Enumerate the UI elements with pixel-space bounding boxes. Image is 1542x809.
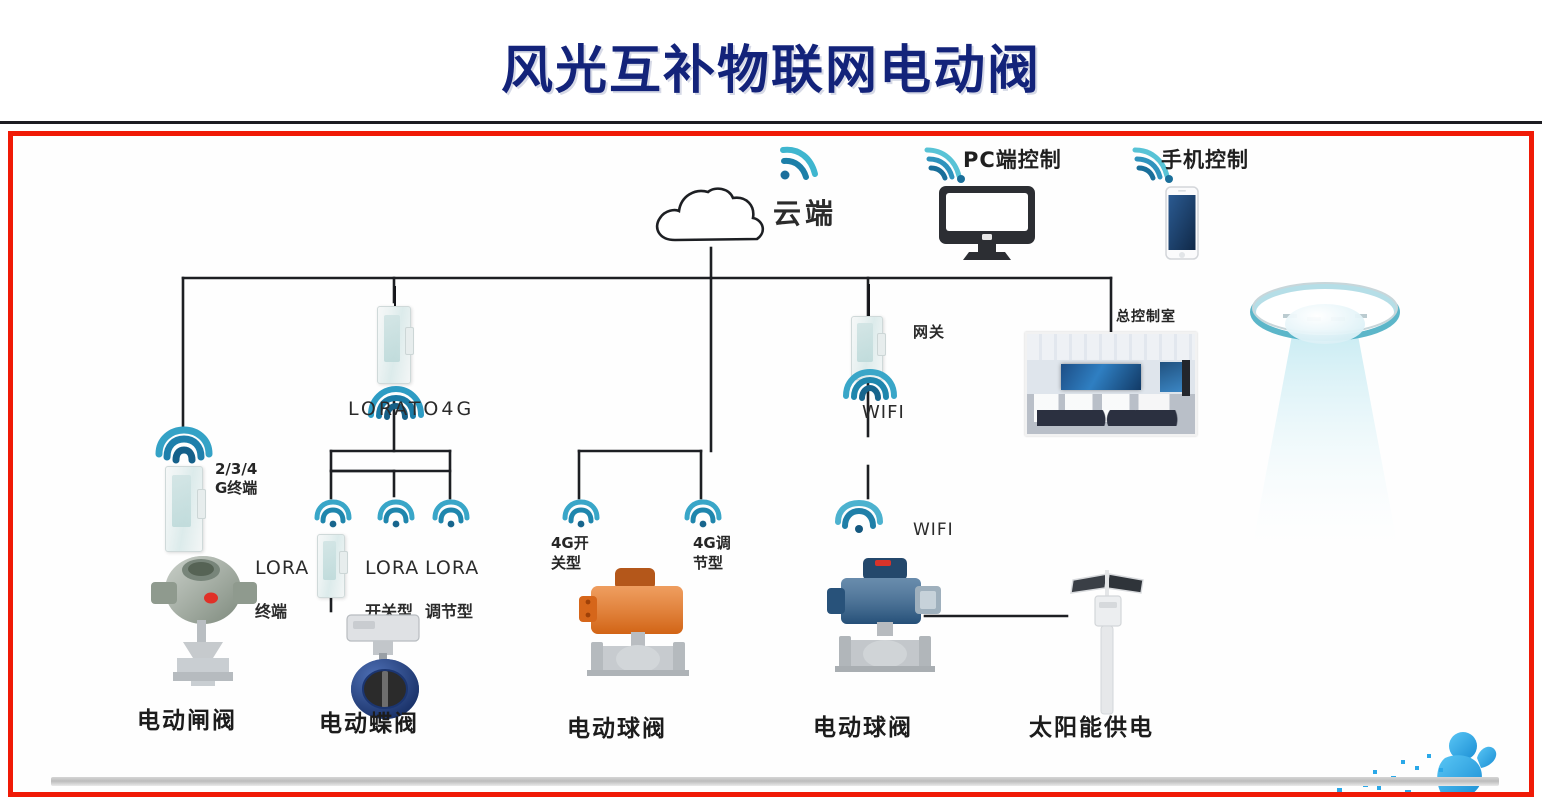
diagram-frame: 云端 xyxy=(8,131,1534,797)
floor-strip xyxy=(51,777,1499,786)
solar-panel-pole-icon[interactable] xyxy=(1059,556,1149,716)
diagram-page: 风光互补物联网电动阀 xyxy=(0,0,1542,809)
title-bar: 风光互补物联网电动阀 xyxy=(0,0,1542,122)
phone-control-label[interactable]: 手机控制 xyxy=(1161,148,1249,172)
electric-gate-valve-icon[interactable] xyxy=(137,546,267,686)
chairs xyxy=(1037,410,1185,426)
lora-to-4g-label: LORATO4G xyxy=(348,399,474,421)
electric-ball-valve-blue-icon[interactable] xyxy=(823,556,949,682)
wifi-signal-icon xyxy=(683,498,723,535)
ufo-spotlight-icon xyxy=(1235,278,1415,568)
wifi-signal-icon xyxy=(313,498,353,535)
diagram-canvas: 云端 xyxy=(13,136,1529,792)
page-title: 风光互补物联网电动阀 xyxy=(0,28,1542,103)
cloud-label: 云端 xyxy=(773,198,837,230)
electric-ball-valve-blue-name: 电动球阀 xyxy=(813,708,913,742)
control-room-label: 总控制室 xyxy=(1116,309,1176,325)
side-screen xyxy=(1160,362,1182,392)
title-divider xyxy=(0,121,1542,124)
electric-ball-valve-orange-name: 电动球阀 xyxy=(567,709,667,743)
wifi-signal-icon xyxy=(833,498,885,541)
cloud-icon xyxy=(651,178,771,250)
video-wall xyxy=(1061,364,1142,390)
control-room-photo[interactable] xyxy=(1025,332,1197,436)
wifi-signal-icon xyxy=(561,498,601,535)
lora-switch-label-main: LORA xyxy=(365,557,419,580)
electric-gate-valve-name: 电动闸阀 xyxy=(137,701,237,735)
gateway-module-icon[interactable] xyxy=(377,306,411,384)
electric-butterfly-valve-name: 电动蝶阀 xyxy=(319,704,419,738)
antenna-icon xyxy=(868,284,870,318)
wifi-signal-icon xyxy=(431,498,471,535)
gateway-label: 网关 xyxy=(913,324,945,341)
gateway-wifi-label: WIFI xyxy=(862,403,905,424)
ceiling-detail xyxy=(1027,334,1195,360)
dark-panel xyxy=(1182,360,1190,396)
lora-modulating-label-main: LORA xyxy=(425,557,479,580)
lora-terminal-module-icon[interactable] xyxy=(317,534,345,598)
smartphone-icon[interactable] xyxy=(1165,186,1199,260)
wifi-signal-icon xyxy=(777,144,823,191)
antenna-icon xyxy=(394,286,396,308)
pc-control-label[interactable]: PC端控制 xyxy=(963,148,1062,172)
electric-ball-valve-orange-icon[interactable] xyxy=(573,566,703,684)
wifi-signal-icon xyxy=(376,498,416,535)
terminal-module-icon[interactable] xyxy=(165,466,203,552)
desktop-monitor-icon[interactable] xyxy=(937,184,1037,262)
terminal-234g-label: 2/3/4 G终端 xyxy=(215,460,257,498)
solar-power-name: 太阳能供电 xyxy=(1029,708,1154,742)
wifi-node-label: WIFI xyxy=(913,521,954,541)
